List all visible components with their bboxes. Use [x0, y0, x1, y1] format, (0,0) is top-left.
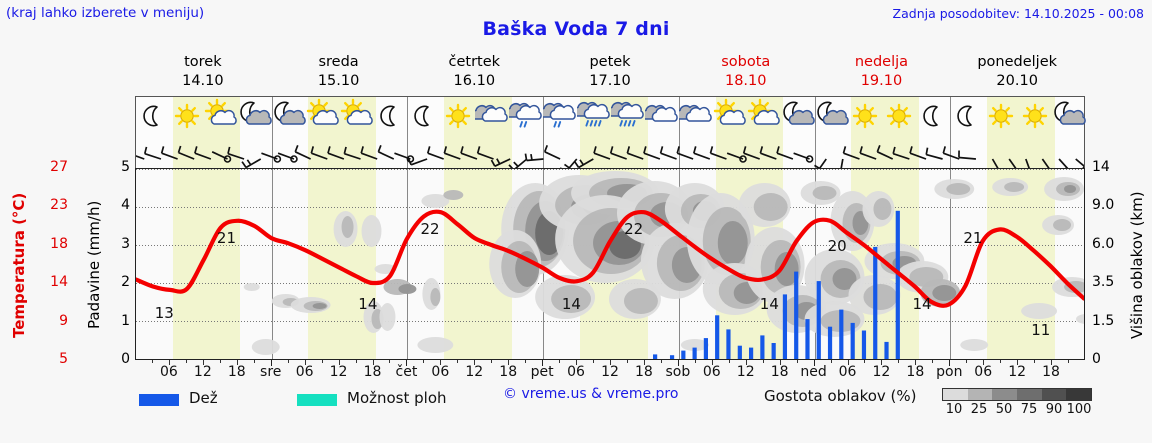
weather-icon-sun [848, 98, 882, 134]
x-label-12: 12 [330, 364, 348, 380]
day-name: petek [542, 53, 678, 72]
x-label-18: 18 [364, 364, 382, 380]
page-title: Baška Voda 7 dni [0, 18, 1152, 40]
temp-label-6: 14 [760, 295, 779, 313]
weather-icon-cloud [475, 98, 509, 134]
precip-tick-0: 0 [108, 351, 130, 367]
temperature-tick-5: 5 [38, 351, 68, 367]
weather-icon-sun [882, 98, 916, 134]
precip-tick-1: 1 [108, 313, 130, 329]
day-header-strip: torek14.10sreda15.10četrtek16.10petek17.… [135, 50, 1085, 94]
x-tick-minor [661, 360, 662, 363]
weather-icon-cloud-rain [611, 98, 645, 134]
rain-legend-label: Dež [189, 389, 218, 407]
day-date: 15.10 [271, 72, 407, 91]
x-label-06: 06 [296, 364, 314, 380]
weather-icon-moon-cloud [272, 98, 306, 134]
weather-icon-sun [1018, 98, 1052, 134]
temp-label-3: 22 [421, 220, 440, 238]
x-label-sre: sre [260, 364, 281, 380]
cloud-density-tick-75: 75 [1021, 402, 1038, 417]
x-tick-minor [831, 360, 832, 363]
x-tick-minor [423, 360, 424, 363]
cloud-height-tick-9.0: 9.0 [1092, 197, 1126, 213]
x-tick-minor [898, 360, 899, 363]
weather-icon-sun-cloud [340, 98, 374, 134]
x-tick-minor [389, 360, 390, 363]
temperature-curve [136, 169, 1084, 359]
x-tick-minor [1034, 360, 1035, 363]
temp-label-2: 14 [358, 295, 377, 313]
weather-icon-sun [170, 98, 204, 134]
temp-label-0: 13 [155, 304, 174, 322]
x-tick-minor [1068, 360, 1069, 363]
x-tick-minor [559, 360, 560, 363]
cloud-density-colorbar-labels: 1025507590100 [942, 402, 1092, 418]
last-updated-text: Zadnja posodobitev: 14.10.2025 - 00:08 [893, 6, 1144, 21]
x-tick-minor [288, 360, 289, 363]
cloud-height-axis-title: Višina oblakov (km) [1124, 170, 1150, 360]
weather-icon-cloud-rain-light [543, 98, 577, 134]
x-label-12: 12 [601, 364, 619, 380]
cloud-height-tick-0: 0 [1092, 351, 1126, 367]
cloud-density-colorbar [942, 388, 1092, 401]
weather-icon-sun-cloud [747, 98, 781, 134]
temp-label-10: 11 [1031, 321, 1050, 339]
x-label-06: 06 [974, 364, 992, 380]
x-label-pon: pon [936, 364, 962, 380]
weather-icon-moon [950, 98, 984, 134]
cloud-density-swatch-75 [1017, 389, 1042, 400]
weather-icon-cloud-rain [577, 98, 611, 134]
x-tick-minor [356, 360, 357, 363]
day-name: torek [135, 53, 271, 72]
weather-icon-row [136, 98, 1084, 136]
x-tick-minor [695, 360, 696, 363]
rain-legend-swatch [139, 394, 179, 406]
day-date: 19.10 [814, 72, 950, 91]
temperature-tick-14: 14 [38, 274, 68, 290]
cloud-density-tick-90: 90 [1046, 402, 1063, 417]
temperature-tick-9: 9 [38, 313, 68, 329]
day-header-5: nedelja19.10 [814, 50, 950, 94]
day-header-3: petek17.10 [542, 50, 678, 94]
x-label-18: 18 [906, 364, 924, 380]
temp-label-9: 21 [963, 229, 982, 247]
day-date: 16.10 [406, 72, 542, 91]
copyright-link[interactable]: © vreme.us & vreme.pro [503, 386, 678, 402]
x-label-pet: pet [531, 364, 554, 380]
weather-icon-moon [136, 98, 170, 134]
wind-barb-row [136, 135, 1084, 168]
weather-icon-cloud-rain-light [509, 98, 543, 134]
x-tick-minor [254, 360, 255, 363]
weather-icon-sun-cloud [713, 98, 747, 134]
weather-icon-moon-cloud [238, 98, 272, 134]
x-tick-minor [1000, 360, 1001, 363]
cloud-density-swatch-100 [1066, 389, 1091, 400]
x-tick-minor [932, 360, 933, 363]
x-label-18: 18 [635, 364, 653, 380]
day-date: 18.10 [678, 72, 814, 91]
x-label-12: 12 [873, 364, 891, 380]
temp-label-8: 14 [912, 295, 931, 313]
x-label-06: 06 [431, 364, 449, 380]
day-name: sreda [271, 53, 407, 72]
temp-label-5: 22 [624, 220, 643, 238]
x-label-06: 06 [703, 364, 721, 380]
weather-icon-moon-cloud [1052, 98, 1086, 134]
day-name: četrtek [406, 53, 542, 72]
x-tick-minor [152, 360, 153, 363]
cloud-density-tick-50: 50 [996, 402, 1013, 417]
day-name: nedelja [814, 53, 950, 72]
precipitation-axis-title: Padavine (mm/h) [82, 175, 106, 355]
weather-icon-moon-cloud [815, 98, 849, 134]
x-label-06: 06 [567, 364, 585, 380]
cloud-density-tick-25: 25 [971, 402, 988, 417]
x-tick-minor [966, 360, 967, 363]
weather-icon-moon [916, 98, 950, 134]
cloud-density-tick-100: 100 [1067, 402, 1092, 417]
x-tick-minor [627, 360, 628, 363]
x-label-čet: čet [396, 364, 418, 380]
cloud-density-swatch-10 [943, 389, 968, 400]
cloud-height-tick-6.0: 6.0 [1092, 236, 1126, 252]
cloud-density-swatch-25 [968, 389, 993, 400]
precip-tick-4: 4 [108, 197, 130, 213]
cloud-height-tick-14: 14 [1092, 159, 1126, 175]
x-tick-minor [797, 360, 798, 363]
x-axis-labels: 061218sre061218čet061218pet061218sob0612… [135, 364, 1085, 382]
x-tick-minor [491, 360, 492, 363]
x-tick-minor [220, 360, 221, 363]
x-tick-minor [525, 360, 526, 363]
cloud-density-legend-title: Gostota oblakov (%) [764, 387, 917, 405]
x-label-06: 06 [839, 364, 857, 380]
x-label-12: 12 [1008, 364, 1026, 380]
forecast-plot: 132114221422142014211120102112 [135, 168, 1085, 360]
temperature-tick-18: 18 [38, 236, 68, 252]
day-header-6: ponedeljek20.10 [949, 50, 1085, 94]
temp-label-1: 21 [217, 229, 236, 247]
x-label-18: 18 [771, 364, 789, 380]
x-label-06: 06 [160, 364, 178, 380]
precip-tick-2: 2 [108, 274, 130, 290]
weather-icon-moon [373, 98, 407, 134]
precip-tick-5: 5 [108, 159, 130, 175]
weather-icon-sun [984, 98, 1018, 134]
day-date: 20.10 [949, 72, 1085, 91]
day-header-2: četrtek16.10 [406, 50, 542, 94]
x-tick-minor [729, 360, 730, 363]
weather-icon-moon-cloud [781, 98, 815, 134]
temperature-axis-title: Temperatura (°C) [6, 175, 32, 355]
temperature-tick-23: 23 [38, 197, 68, 213]
x-label-12: 12 [737, 364, 755, 380]
day-name: sobota [678, 53, 814, 72]
x-label-ned: ned [800, 364, 826, 380]
weather-icon-cloud [679, 98, 713, 134]
precip-tick-3: 3 [108, 236, 130, 252]
cloud-density-swatch-90 [1042, 389, 1067, 400]
weather-icon-sun [441, 98, 475, 134]
x-label-18: 18 [1042, 364, 1060, 380]
x-tick-minor [322, 360, 323, 363]
cloud-density-tick-10: 10 [946, 402, 963, 417]
cloud-density-swatch-50 [992, 389, 1017, 400]
temp-label-7: 20 [828, 237, 847, 255]
day-date: 17.10 [542, 72, 678, 91]
x-label-18: 18 [499, 364, 517, 380]
weather-icon-sun-cloud [306, 98, 340, 134]
day-header-0: torek14.10 [135, 50, 271, 94]
day-header-4: sobota18.10 [678, 50, 814, 94]
x-label-18: 18 [228, 364, 246, 380]
x-label-12: 12 [465, 364, 483, 380]
x-label-12: 12 [194, 364, 212, 380]
showers-legend-label: Možnost ploh [347, 389, 447, 407]
x-tick-minor [864, 360, 865, 363]
x-tick-minor [457, 360, 458, 363]
x-tick-minor [763, 360, 764, 363]
cloud-height-tick-1.5: 1.5 [1092, 313, 1126, 329]
temperature-tick-27: 27 [38, 159, 68, 175]
weather-icon-panel [135, 96, 1085, 168]
day-name: ponedeljek [949, 53, 1085, 72]
weather-icon-sun-cloud [204, 98, 238, 134]
showers-legend-swatch [297, 394, 337, 406]
cloud-height-tick-3.5: 3.5 [1092, 274, 1126, 290]
day-header-1: sreda15.10 [271, 50, 407, 94]
x-label-sob: sob [665, 364, 690, 380]
weather-icon-cloud [645, 98, 679, 134]
temp-label-4: 14 [562, 295, 581, 313]
x-tick-minor [593, 360, 594, 363]
x-tick-minor [186, 360, 187, 363]
weather-icon-moon [407, 98, 441, 134]
day-date: 14.10 [135, 72, 271, 91]
